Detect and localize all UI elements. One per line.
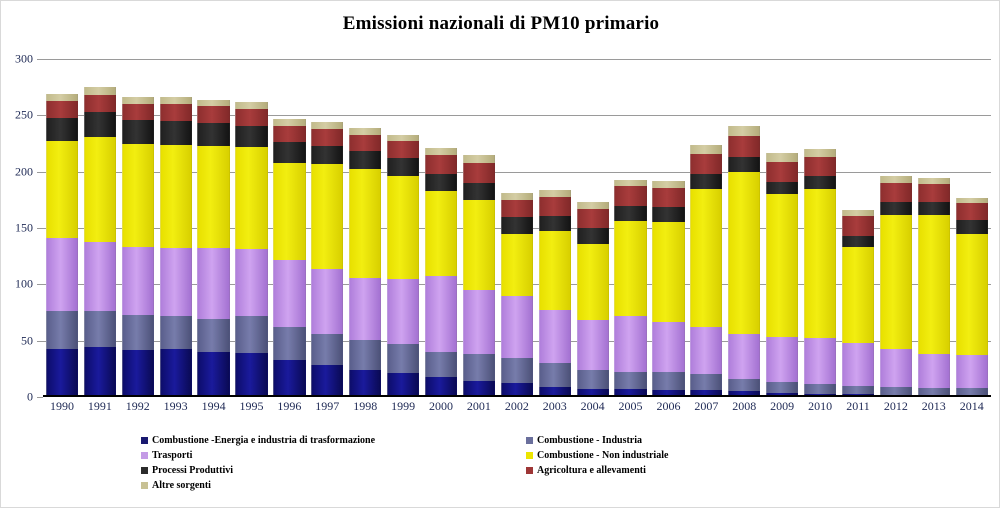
bar-segment-trasporti[interactable]	[46, 238, 78, 311]
bar-segment-trasporti[interactable]	[501, 296, 533, 358]
bar-segment-processi[interactable]	[463, 183, 495, 200]
bar-segment-energia[interactable]	[46, 349, 78, 397]
bar-segment-agricoltura[interactable]	[122, 104, 154, 120]
bar-segment-trasporti[interactable]	[539, 310, 571, 363]
bar-segment-industria[interactable]	[349, 340, 381, 370]
x-axis-tick-label: 1994	[197, 399, 229, 414]
legend-label: Altre sorgenti	[152, 480, 211, 491]
x-axis-tick-label: 2001	[463, 399, 495, 414]
bar-segment-agricoltura[interactable]	[46, 101, 78, 118]
bar-segment-trasporti[interactable]	[577, 320, 609, 370]
bar-segment-industria[interactable]	[122, 315, 154, 350]
plot-area	[43, 59, 991, 397]
legend-item-nonind[interactable]: Combustione - Non industriale	[526, 450, 841, 461]
bar-segment-processi[interactable]	[197, 123, 229, 146]
bar-segment-industria[interactable]	[311, 334, 343, 366]
bar-segment-altre[interactable]	[425, 148, 457, 155]
bar-segment-trasporti[interactable]	[273, 260, 305, 328]
bar-segment-trasporti[interactable]	[728, 334, 760, 379]
bar-segment-altre[interactable]	[122, 97, 154, 104]
x-axis-tick-label: 2002	[501, 399, 533, 414]
x-axis-tick-label: 1992	[122, 399, 154, 414]
bar-segment-agricoltura[interactable]	[349, 135, 381, 152]
bar-column[interactable]	[539, 59, 571, 397]
bar-segment-trasporti[interactable]	[463, 290, 495, 354]
legend-swatch-icon	[141, 437, 148, 444]
x-axis-tick-label: 1991	[84, 399, 116, 414]
bar-segment-energia[interactable]	[160, 349, 192, 397]
bar-segment-altre[interactable]	[387, 135, 419, 142]
bar-segment-nonind[interactable]	[918, 215, 950, 355]
bar-segment-processi[interactable]	[539, 216, 571, 232]
bar-column[interactable]	[273, 59, 305, 397]
bar-segment-industria[interactable]	[463, 354, 495, 381]
bar-segment-nonind[interactable]	[766, 194, 798, 337]
bar-segment-industria[interactable]	[652, 372, 684, 390]
legend-label: Combustione - Industria	[537, 435, 642, 446]
x-axis-tick-label: 1996	[273, 399, 305, 414]
bar-segment-industria[interactable]	[842, 386, 874, 394]
bar-segment-nonind[interactable]	[577, 244, 609, 321]
bar-segment-nonind[interactable]	[235, 147, 267, 250]
x-axis-tick-label: 1993	[160, 399, 192, 414]
legend-item-industria[interactable]: Combustione - Industria	[526, 435, 841, 446]
bar-segment-processi[interactable]	[766, 182, 798, 194]
bar-segment-agricoltura[interactable]	[197, 106, 229, 123]
x-axis-tick-label: 2010	[804, 399, 836, 414]
bar-segment-industria[interactable]	[728, 379, 760, 391]
bar-segment-industria[interactable]	[501, 358, 533, 384]
x-axis-tick-label: 1997	[311, 399, 343, 414]
bar-segment-processi[interactable]	[235, 126, 267, 147]
bar-column[interactable]	[425, 59, 457, 397]
bar-segment-agricoltura[interactable]	[273, 126, 305, 143]
bar-segment-trasporti[interactable]	[614, 316, 646, 372]
x-axis-tick-label: 2004	[577, 399, 609, 414]
bar-segment-processi[interactable]	[425, 174, 457, 191]
bar-segment-processi[interactable]	[690, 174, 722, 189]
x-axis-tick-label: 2008	[728, 399, 760, 414]
y-axis: 050100150200250300	[1, 49, 37, 397]
bar-segment-agricoltura[interactable]	[614, 186, 646, 205]
bar-column[interactable]	[349, 59, 381, 397]
bar-segment-nonind[interactable]	[160, 145, 192, 249]
legend-item-altre[interactable]: Altre sorgenti	[141, 480, 526, 491]
bar-segment-industria[interactable]	[273, 327, 305, 360]
x-axis-tick-label: 1998	[349, 399, 381, 414]
bar-column[interactable]	[46, 59, 78, 397]
bar-segment-processi[interactable]	[652, 207, 684, 223]
bar-column[interactable]	[84, 59, 116, 397]
bar-segment-agricoltura[interactable]	[804, 157, 836, 176]
bar-segment-trasporti[interactable]	[387, 279, 419, 344]
bar-segment-trasporti[interactable]	[690, 327, 722, 374]
bar-segment-nonind[interactable]	[842, 247, 874, 343]
x-axis-tick-label: 2013	[918, 399, 950, 414]
bar-segment-processi[interactable]	[577, 228, 609, 244]
bar-segment-processi[interactable]	[84, 112, 116, 137]
bar-segment-industria[interactable]	[766, 382, 798, 392]
bar-segment-trasporti[interactable]	[766, 337, 798, 382]
bar-column[interactable]	[463, 59, 495, 397]
bar-segment-industria[interactable]	[880, 387, 912, 395]
y-axis-tick-label: 100	[1, 277, 33, 292]
bar-segment-agricoltura[interactable]	[652, 188, 684, 207]
bar-segment-agricoltura[interactable]	[728, 136, 760, 157]
y-axis-tick-label: 150	[1, 221, 33, 236]
bar-column[interactable]	[956, 59, 988, 397]
x-axis-tick-label: 2000	[425, 399, 457, 414]
bar-column[interactable]	[235, 59, 267, 397]
legend-label: Agricoltura e allevamenti	[537, 465, 646, 476]
bar-segment-agricoltura[interactable]	[387, 141, 419, 158]
bar-segment-nonind[interactable]	[122, 144, 154, 248]
bar-segment-industria[interactable]	[84, 311, 116, 347]
bar-segment-industria[interactable]	[160, 316, 192, 349]
bar-segment-altre[interactable]	[880, 176, 912, 183]
bar-segment-nonind[interactable]	[46, 141, 78, 238]
bar-column[interactable]	[197, 59, 229, 397]
bar-column[interactable]	[690, 59, 722, 397]
bar-segment-trasporti[interactable]	[804, 338, 836, 383]
bar-segment-industria[interactable]	[46, 311, 78, 348]
bar-segment-industria[interactable]	[197, 319, 229, 352]
x-axis-tick-label: 2009	[766, 399, 798, 414]
legend-item-agricoltura[interactable]: Agricoltura e allevamenti	[526, 465, 841, 476]
bar-segment-agricoltura[interactable]	[577, 209, 609, 228]
bar-segment-energia[interactable]	[425, 377, 457, 397]
bar-segment-altre[interactable]	[539, 190, 571, 197]
bar-segment-nonind[interactable]	[880, 215, 912, 349]
bar-segment-agricoltura[interactable]	[766, 162, 798, 182]
legend-label: Combustione - Non industriale	[537, 450, 668, 461]
bar-segment-altre[interactable]	[273, 119, 305, 126]
bar-column[interactable]	[880, 59, 912, 397]
bar-segment-energia[interactable]	[349, 370, 381, 397]
bar-segment-energia[interactable]	[273, 360, 305, 397]
bar-segment-industria[interactable]	[539, 363, 571, 387]
chart-legend: Combustione -Energia e industria di tras…	[141, 433, 841, 493]
chart-frame: Emissioni nazionali di PM10 primario 050…	[0, 0, 1000, 508]
bar-segment-trasporti[interactable]	[880, 349, 912, 387]
bar-segment-nonind[interactable]	[728, 172, 760, 334]
bar-segment-altre[interactable]	[690, 145, 722, 154]
bar-segment-altre[interactable]	[311, 122, 343, 129]
bar-column[interactable]	[614, 59, 646, 397]
bar-segment-agricoltura[interactable]	[918, 184, 950, 202]
bar-segment-energia[interactable]	[387, 373, 419, 397]
bar-segment-altre[interactable]	[501, 193, 533, 200]
bar-segment-industria[interactable]	[614, 372, 646, 389]
bar-segment-altre[interactable]	[349, 128, 381, 135]
bar-segment-processi[interactable]	[918, 202, 950, 214]
bar-segment-trasporti[interactable]	[956, 355, 988, 388]
bar-segment-nonind[interactable]	[501, 234, 533, 296]
y-axis-tick-mark	[37, 397, 43, 398]
bar-series-group	[43, 59, 991, 397]
bar-segment-agricoltura[interactable]	[842, 216, 874, 236]
bar-column[interactable]	[122, 59, 154, 397]
bar-segment-nonind[interactable]	[311, 164, 343, 269]
bar-segment-industria[interactable]	[387, 344, 419, 373]
legend-label: Trasporti	[152, 450, 192, 461]
legend-item-trasporti[interactable]: Trasporti	[141, 450, 526, 461]
y-axis-tick-label: 250	[1, 108, 33, 123]
x-axis-tick-label: 2005	[614, 399, 646, 414]
bar-segment-processi[interactable]	[311, 146, 343, 164]
bar-segment-agricoltura[interactable]	[956, 203, 988, 220]
bar-segment-processi[interactable]	[804, 176, 836, 188]
y-axis-tick-label: 200	[1, 164, 33, 179]
bar-segment-industria[interactable]	[425, 352, 457, 377]
bar-segment-industria[interactable]	[918, 388, 950, 395]
bar-segment-altre[interactable]	[577, 202, 609, 209]
bar-segment-agricoltura[interactable]	[463, 163, 495, 183]
bar-segment-trasporti[interactable]	[84, 242, 116, 312]
x-axis-labels: 1990199119921993199419951996199719981999…	[43, 399, 991, 414]
bar-segment-altre[interactable]	[160, 97, 192, 104]
bar-segment-altre[interactable]	[235, 102, 267, 109]
bar-column[interactable]	[728, 59, 760, 397]
bar-segment-agricoltura[interactable]	[539, 197, 571, 216]
bar-segment-nonind[interactable]	[463, 200, 495, 290]
bar-segment-trasporti[interactable]	[122, 247, 154, 315]
bar-segment-processi[interactable]	[614, 206, 646, 222]
bar-segment-nonind[interactable]	[84, 137, 116, 242]
bar-segment-industria[interactable]	[804, 384, 836, 394]
bar-segment-nonind[interactable]	[273, 163, 305, 260]
bar-segment-trasporti[interactable]	[652, 322, 684, 373]
bar-segment-trasporti[interactable]	[842, 343, 874, 386]
legend-swatch-icon	[141, 452, 148, 459]
bar-segment-processi[interactable]	[160, 121, 192, 145]
bar-segment-nonind[interactable]	[197, 146, 229, 249]
bar-segment-altre[interactable]	[766, 153, 798, 162]
bar-segment-processi[interactable]	[728, 157, 760, 172]
bar-column[interactable]	[918, 59, 950, 397]
bar-segment-processi[interactable]	[956, 220, 988, 234]
bar-segment-nonind[interactable]	[387, 176, 419, 279]
bar-segment-processi[interactable]	[46, 118, 78, 142]
bar-segment-altre[interactable]	[463, 155, 495, 163]
bar-segment-altre[interactable]	[46, 94, 78, 101]
bar-segment-nonind[interactable]	[539, 231, 571, 310]
bar-segment-processi[interactable]	[842, 236, 874, 247]
bar-segment-processi[interactable]	[501, 217, 533, 234]
bar-column[interactable]	[766, 59, 798, 397]
bar-segment-trasporti[interactable]	[197, 248, 229, 319]
bar-column[interactable]	[577, 59, 609, 397]
bar-segment-agricoltura[interactable]	[235, 109, 267, 126]
x-axis-tick-label: 2011	[842, 399, 874, 414]
bar-segment-agricoltura[interactable]	[311, 129, 343, 146]
page-title: Emissioni nazionali di PM10 primario	[1, 13, 1000, 35]
bar-column[interactable]	[160, 59, 192, 397]
bar-segment-agricoltura[interactable]	[690, 154, 722, 174]
x-axis-tick-label: 2012	[880, 399, 912, 414]
bar-segment-altre[interactable]	[728, 126, 760, 136]
legend-swatch-icon	[141, 482, 148, 489]
bar-segment-agricoltura[interactable]	[501, 200, 533, 217]
bar-segment-nonind[interactable]	[425, 191, 457, 277]
bar-segment-nonind[interactable]	[804, 189, 836, 339]
bar-column[interactable]	[501, 59, 533, 397]
bar-segment-altre[interactable]	[652, 181, 684, 188]
bar-segment-industria[interactable]	[577, 370, 609, 389]
bar-segment-energia[interactable]	[197, 352, 229, 397]
bar-column[interactable]	[652, 59, 684, 397]
bar-segment-agricoltura[interactable]	[425, 155, 457, 174]
legend-swatch-icon	[141, 467, 148, 474]
bar-segment-trasporti[interactable]	[425, 276, 457, 351]
bar-column[interactable]	[804, 59, 836, 397]
bar-segment-industria[interactable]	[956, 388, 988, 395]
legend-swatch-icon	[526, 437, 533, 444]
legend-item-energia[interactable]: Combustione -Energia e industria di tras…	[141, 435, 526, 446]
x-axis-tick-label: 2003	[539, 399, 571, 414]
bar-segment-processi[interactable]	[273, 142, 305, 162]
bar-segment-energia[interactable]	[122, 350, 154, 397]
bar-segment-nonind[interactable]	[690, 189, 722, 328]
bar-segment-energia[interactable]	[84, 347, 116, 397]
bar-segment-industria[interactable]	[690, 374, 722, 390]
x-axis-tick-label: 2014	[956, 399, 988, 414]
y-axis-tick-label: 300	[1, 52, 33, 67]
bar-segment-nonind[interactable]	[956, 234, 988, 356]
bar-segment-processi[interactable]	[387, 158, 419, 176]
legend-label: Combustione -Energia e industria di tras…	[152, 435, 375, 446]
bar-segment-trasporti[interactable]	[160, 248, 192, 316]
bar-segment-altre[interactable]	[614, 180, 646, 187]
bar-segment-industria[interactable]	[235, 316, 267, 353]
bar-segment-processi[interactable]	[349, 151, 381, 169]
bar-segment-nonind[interactable]	[652, 222, 684, 321]
bar-segment-energia[interactable]	[235, 353, 267, 397]
y-axis-tick-label: 50	[1, 333, 33, 348]
x-axis-tick-label: 2006	[652, 399, 684, 414]
bar-segment-energia[interactable]	[311, 365, 343, 397]
bar-segment-altre[interactable]	[84, 87, 116, 95]
bar-column[interactable]	[311, 59, 343, 397]
bar-segment-agricoltura[interactable]	[160, 104, 192, 121]
x-axis-tick-label: 2007	[690, 399, 722, 414]
bar-segment-trasporti[interactable]	[918, 354, 950, 388]
x-axis-line	[43, 395, 991, 397]
bar-segment-agricoltura[interactable]	[880, 183, 912, 202]
bar-segment-altre[interactable]	[804, 149, 836, 157]
legend-item-processi[interactable]: Processi Produttivi	[141, 465, 526, 476]
bar-segment-nonind[interactable]	[614, 221, 646, 316]
x-axis-tick-label: 1990	[46, 399, 78, 414]
plot-wrapper	[43, 59, 991, 397]
bar-segment-trasporti[interactable]	[311, 269, 343, 334]
bar-segment-trasporti[interactable]	[349, 278, 381, 340]
bar-segment-trasporti[interactable]	[235, 249, 267, 315]
bar-column[interactable]	[842, 59, 874, 397]
y-axis-tick-label: 0	[1, 390, 33, 405]
x-axis-tick-label: 1999	[387, 399, 419, 414]
bar-segment-nonind[interactable]	[349, 169, 381, 277]
bar-segment-processi[interactable]	[122, 120, 154, 144]
bar-segment-processi[interactable]	[880, 202, 912, 214]
bar-column[interactable]	[387, 59, 419, 397]
legend-label: Processi Produttivi	[152, 465, 233, 476]
bar-segment-altre[interactable]	[197, 100, 229, 107]
legend-swatch-icon	[526, 452, 533, 459]
legend-swatch-icon	[526, 467, 533, 474]
x-axis-tick-label: 1995	[235, 399, 267, 414]
bar-segment-agricoltura[interactable]	[84, 95, 116, 112]
